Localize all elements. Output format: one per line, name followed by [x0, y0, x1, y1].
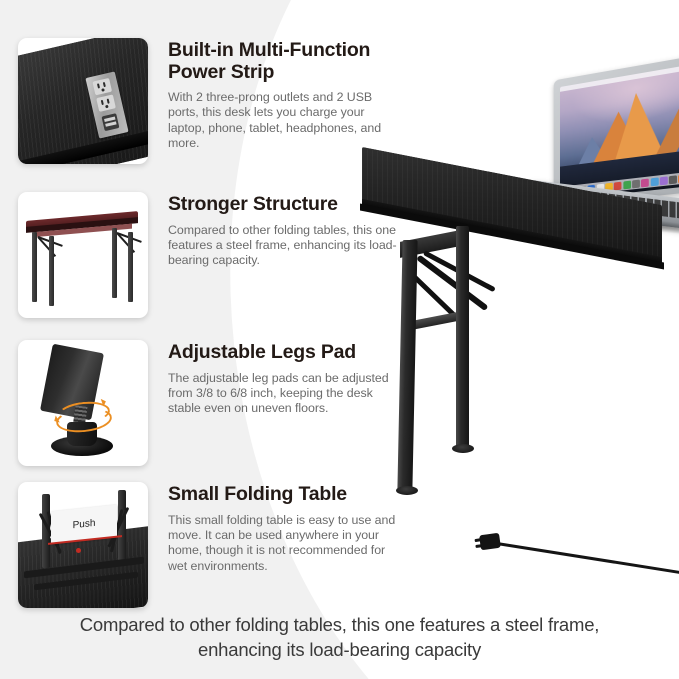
feature-power-strip: Built-in Multi-Function Power Strip With…	[18, 38, 400, 164]
dock-icon-photos	[632, 179, 640, 188]
feature-title: Small Folding Table	[168, 484, 400, 506]
cord-line	[497, 542, 679, 576]
hero-product-photo	[352, 58, 679, 578]
bottom-caption: Compared to other folding tables, this o…	[0, 612, 679, 662]
feature-stronger-structure: Stronger Structure Compared to other fol…	[18, 192, 400, 318]
table-frame-thumbnail	[18, 192, 148, 318]
leg-pad-thumbnail	[18, 340, 148, 466]
dock-icon-settings	[669, 175, 677, 184]
table-leg	[49, 236, 54, 306]
macos-menu-bar	[560, 60, 679, 92]
feature-title: Built-in Multi-Function Power Strip	[168, 40, 400, 83]
laptop-screen	[560, 60, 679, 200]
table-leg	[128, 232, 133, 302]
power-strip-thumbnail	[18, 38, 148, 164]
power-outlet	[92, 78, 112, 95]
feature-adjustable-legs-pad: Adjustable Legs Pad The adjustable leg p…	[18, 340, 400, 466]
adjustable-foot-pad	[452, 444, 474, 453]
dock-icon-facetime	[650, 177, 658, 186]
power-plug	[479, 533, 501, 551]
feature-text-block: Built-in Multi-Function Power Strip With…	[168, 38, 400, 152]
feature-text-block: Adjustable Legs Pad The adjustable leg p…	[168, 340, 400, 417]
feature-text-block: Stronger Structure Compared to other fol…	[168, 192, 400, 269]
usb-ports	[101, 113, 119, 131]
laptop-lid	[554, 50, 679, 207]
power-cord	[480, 520, 679, 580]
feature-small-folding-table: Push Small Folding Table This small fold…	[18, 482, 400, 608]
power-outlet	[96, 94, 116, 111]
feature-body: The adjustable leg pads can be adjusted …	[168, 371, 400, 417]
table-leg	[32, 232, 37, 302]
folding-mechanism-thumbnail: Push	[18, 482, 148, 608]
feature-body: With 2 three-prong outlets and 2 USB por…	[168, 90, 400, 152]
dock-icon-messages	[623, 180, 631, 189]
caption-line-1: Compared to other folding tables, this o…	[80, 614, 600, 635]
plug-prong	[475, 538, 481, 541]
desk-leg-front	[397, 240, 417, 490]
feature-text-block: Small Folding Table This small folding t…	[168, 482, 400, 574]
feature-body: This small folding table is easy to use …	[168, 513, 400, 575]
feature-body: Compared to other folding tables, this o…	[168, 223, 400, 269]
table-leg	[112, 228, 117, 298]
feature-title: Adjustable Legs Pad	[168, 342, 400, 364]
dock-icon-calendar	[660, 176, 668, 185]
push-indicator-dot	[76, 548, 81, 553]
caption-line-2: enhancing its load-bearing capacity	[0, 637, 679, 662]
plug-prong	[475, 544, 481, 547]
infographic-canvas: Built-in Multi-Function Power Strip With…	[0, 0, 679, 679]
dock-icon-itunes	[641, 178, 649, 187]
dock-icon-maps	[614, 181, 622, 190]
desk-leg-back	[456, 226, 469, 448]
feature-title: Stronger Structure	[168, 194, 400, 216]
